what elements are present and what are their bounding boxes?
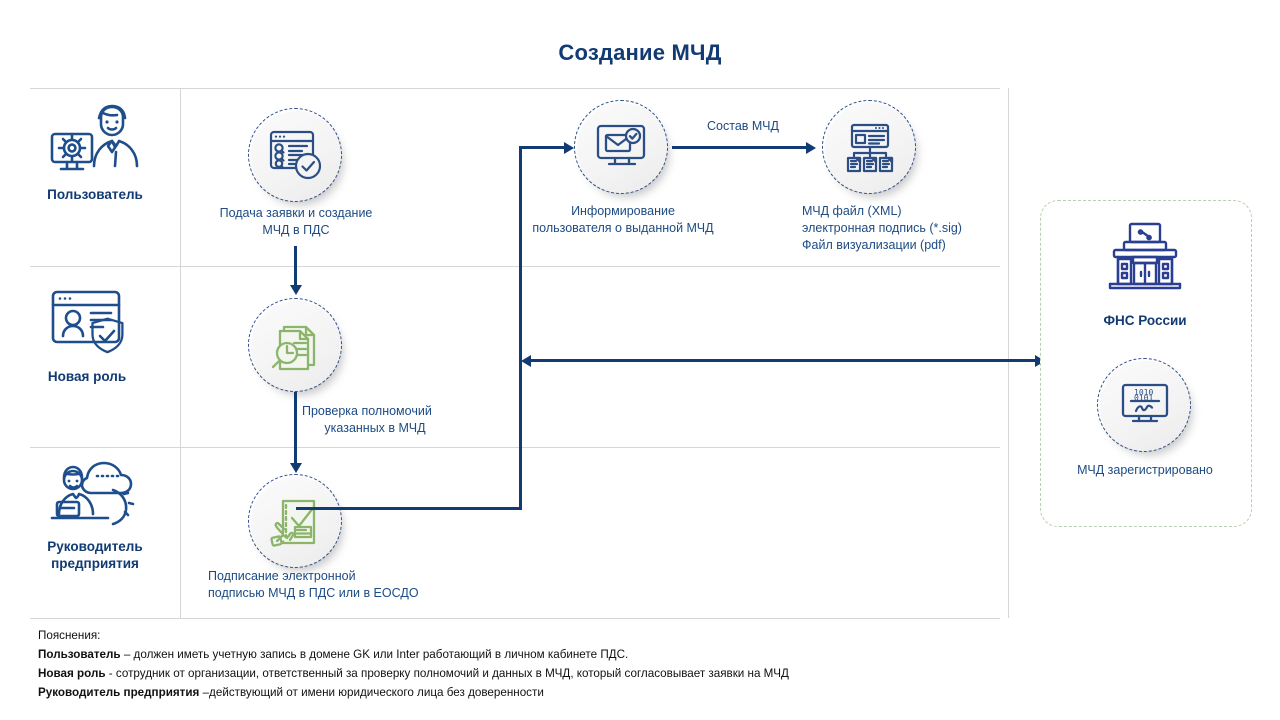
- user-monitor-gear-icon: [20, 100, 170, 178]
- edge-fns-arrowhead-left: [521, 355, 531, 367]
- caption-line-2: указанных в МЧД: [302, 420, 448, 437]
- node-submit-request-caption: Подача заявки и создание МЧД в ПДС: [196, 205, 396, 239]
- notes-heading: Пояснения:: [38, 626, 1147, 645]
- lane-divider-2: [30, 447, 1000, 448]
- edge-submit-to-check-arrowhead: [290, 285, 302, 295]
- browser-person-shield-icon: [12, 282, 162, 360]
- note-term-0: Пользователь: [38, 647, 121, 661]
- node-sign-document[interactable]: [248, 474, 344, 570]
- caption-line-1: МЧД файл (XML): [802, 203, 1022, 220]
- actor-user-label: Пользователь: [20, 186, 170, 203]
- note-item-2: Руководитель предприятия –действующий от…: [38, 683, 1147, 702]
- edge-check-to-sign-arrowhead: [290, 463, 302, 473]
- lane-divider-top: [30, 88, 1000, 89]
- caption-line-1: Информирование: [528, 203, 718, 220]
- caption-line-1: Проверка полномочий: [302, 403, 472, 420]
- note-term-1: Новая роль: [38, 666, 106, 680]
- node-submit-request[interactable]: [248, 108, 344, 204]
- lane-divider-vertical-left: [180, 88, 181, 618]
- caption-line-3: Файл визуализации (pdf): [802, 237, 1022, 254]
- caption-line-1: Подписание электронной: [208, 568, 458, 585]
- caption-line-1: Подача заявки и создание: [196, 205, 396, 222]
- document-tree-icon: [825, 103, 915, 193]
- note-text-2: –действующий от имени юридического лица …: [199, 685, 544, 699]
- node-mchd-registered[interactable]: 1010 0101: [1097, 358, 1193, 454]
- caption-line-2: МЧД в ПДС: [196, 222, 396, 239]
- node-check-authority-caption: Проверка полномочий указанных в МЧД: [302, 403, 472, 437]
- actor-new-role-label: Новая роль: [12, 368, 162, 385]
- lane-divider-vertical-right: [1008, 88, 1009, 618]
- actor-manager-label-line2: предприятия: [20, 555, 170, 572]
- edge-fns-bidirectional-line: [531, 359, 1036, 362]
- caption-line-2: подписью МЧД в ПДС или в ЕОСДО: [208, 585, 458, 602]
- monitor-mail-check-icon: [577, 103, 667, 193]
- actor-manager-label-line1: Руководитель: [20, 538, 170, 555]
- node-inform-user-caption: Информирование пользователя о выданной М…: [528, 203, 718, 237]
- node-mchd-registered-caption: МЧД зарегистрировано: [1055, 462, 1235, 479]
- actor-user: Пользователь: [20, 100, 170, 203]
- edge-sign-to-inform-arrowhead: [564, 142, 574, 154]
- edge-inform-to-files-line: [672, 146, 807, 149]
- note-text-0: – должен иметь учетную запись в домене G…: [121, 647, 629, 661]
- diagram-canvas: Создание МЧД: [0, 0, 1280, 720]
- node-sign-document-caption: Подписание электронной подписью МЧД в ПД…: [208, 568, 458, 602]
- edge-inform-to-files-arrowhead: [806, 142, 816, 154]
- node-mchd-files-caption: МЧД файл (XML) электронная подпись (*.si…: [802, 203, 1022, 253]
- actor-manager: Руководитель предприятия: [20, 452, 170, 573]
- node-mchd-files[interactable]: [822, 100, 918, 196]
- actor-new-role: Новая роль: [12, 282, 162, 385]
- node-check-authority[interactable]: [248, 298, 344, 394]
- edge-compose-label: Состав МЧД: [707, 118, 779, 135]
- hand-signing-document-icon: [251, 477, 341, 567]
- checklist-approved-icon: [251, 111, 341, 201]
- edge-sign-to-inform-horizontal-top: [519, 146, 565, 149]
- svg-text:0101: 0101: [1134, 394, 1153, 403]
- lane-divider-1: [30, 266, 1000, 267]
- magnifier-document-icon: [251, 301, 341, 391]
- tax-office-building-icon: [1040, 222, 1250, 292]
- note-term-2: Руководитель предприятия: [38, 685, 199, 699]
- note-item-0: Пользователь – должен иметь учетную запи…: [38, 645, 1147, 664]
- page-title: Создание МЧД: [0, 40, 1280, 66]
- caption-line-2: электронная подпись (*.sig): [802, 220, 1022, 237]
- monitor-binary-signature-icon: 1010 0101: [1100, 361, 1190, 451]
- manager-laptop-cloud-icon: [20, 452, 170, 530]
- lane-divider-bottom: [30, 618, 1000, 619]
- edge-submit-to-check-line: [294, 246, 297, 286]
- note-text-1: - сотрудник от организации, ответственны…: [106, 666, 789, 680]
- edge-sign-to-inform-vertical: [519, 147, 522, 510]
- edge-sign-to-inform-horizontal-bottom: [296, 507, 522, 510]
- notes-block: Пояснения: Пользователь – должен иметь у…: [38, 626, 1218, 701]
- caption-line-2: пользователя о выданной МЧД: [528, 220, 718, 237]
- note-item-1: Новая роль - сотрудник от организации, о…: [38, 664, 1147, 683]
- fns-title: ФНС России: [1040, 313, 1250, 328]
- edge-check-to-sign-line: [294, 392, 297, 464]
- node-inform-user[interactable]: [574, 100, 670, 196]
